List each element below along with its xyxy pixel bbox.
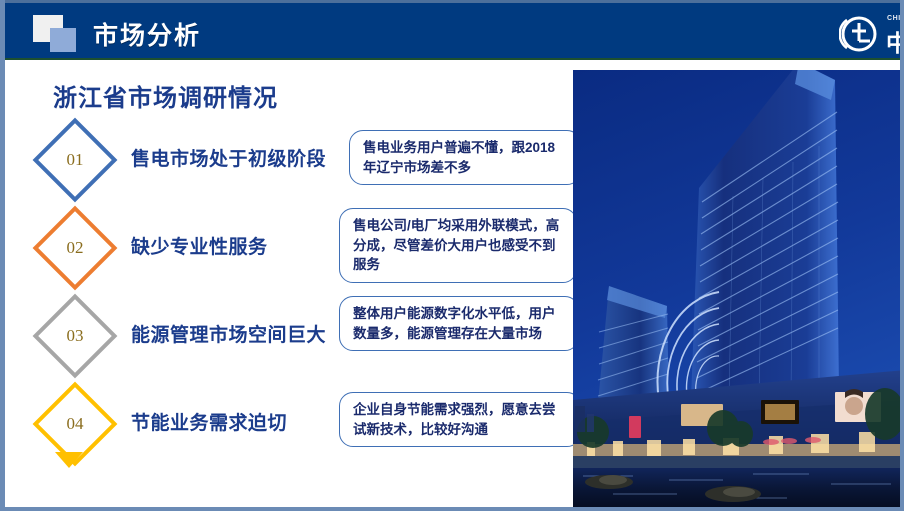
chevron-down-icon bbox=[55, 452, 83, 468]
item-label: 售电市场处于初级阶段 bbox=[131, 144, 326, 171]
item-number: 02 bbox=[45, 218, 105, 278]
analysis-list: 01 售电市场处于初级阶段 售电业务用户普遍不懂，跟2018年辽宁市场差不多 0… bbox=[39, 124, 569, 476]
list-item[interactable]: 03 能源管理市场空间巨大 整体用户能源数字化水平低，用户数量多，能源管理存在大… bbox=[39, 300, 569, 388]
company-logo: CHINA ENERGY GUO HONG 中能国宏 bbox=[839, 13, 887, 55]
item-label: 能源管理市场空间巨大 bbox=[131, 320, 326, 347]
item-label: 缺少专业性服务 bbox=[131, 232, 268, 259]
square-blue bbox=[50, 28, 76, 52]
item-number: 03 bbox=[45, 306, 105, 366]
item-note-callout: 售电业务用户普遍不懂，跟2018年辽宁市场差不多 bbox=[349, 130, 581, 185]
slide-header: 市场分析 CHINA ENERGY GUO HONG 中能国宏 bbox=[5, 0, 904, 60]
slide: 市场分析 CHINA ENERGY GUO HONG 中能国宏 浙江省市场调研情… bbox=[0, 0, 904, 511]
building-photo bbox=[573, 70, 904, 507]
item-label: 节能业务需求迫切 bbox=[131, 408, 287, 435]
item-note-callout: 整体用户能源数字化水平低，用户数量多，能源管理存在大量市场 bbox=[339, 296, 579, 351]
item-number: 01 bbox=[45, 130, 105, 190]
page-title: 市场分析 bbox=[93, 16, 201, 52]
guohong-circle-icon bbox=[839, 14, 879, 54]
item-note-callout: 企业自身节能需求强烈，愿意去尝试新技术，比较好沟通 bbox=[339, 392, 581, 447]
section-title: 浙江省市场调研情况 bbox=[53, 78, 278, 113]
list-item[interactable]: 01 售电市场处于初级阶段 售电业务用户普遍不懂，跟2018年辽宁市场差不多 bbox=[39, 124, 569, 212]
logo-english-text: CHINA ENERGY GUO HONG bbox=[887, 15, 904, 22]
logo-chinese-text: 中能国宏 bbox=[886, 24, 904, 58]
two-squares-icon bbox=[33, 15, 79, 55]
item-note-callout: 售电公司/电厂均采用外联模式，高分成，尽管差价大用户也感受不到服务 bbox=[339, 208, 577, 283]
item-number: 04 bbox=[45, 394, 105, 454]
list-item[interactable]: 04 节能业务需求迫切 企业自身节能需求强烈，愿意去尝试新技术，比较好沟通 bbox=[39, 388, 569, 476]
list-item[interactable]: 02 缺少专业性服务 售电公司/电厂均采用外联模式，高分成，尽管差价大用户也感受… bbox=[39, 212, 569, 300]
